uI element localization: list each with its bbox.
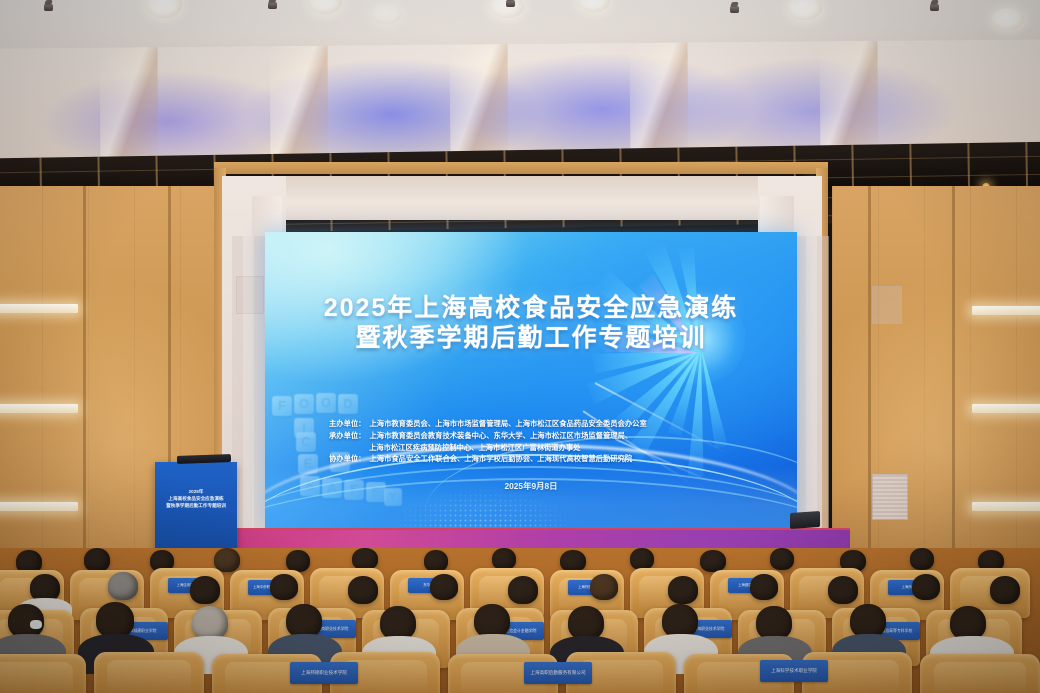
seat-placard: 上海邦德职业技术学院	[290, 662, 358, 684]
face-mask	[30, 620, 42, 629]
wall-light-slot	[972, 306, 1040, 315]
wall-seam	[868, 186, 871, 606]
attendee-head	[910, 548, 934, 570]
wall-access-panel-right	[872, 286, 902, 324]
ceiling-spot-fixture	[268, 2, 277, 9]
stage-laptop-right	[790, 511, 820, 529]
screen-title-line-1: 2025年上海高校食品安全应急演练	[265, 294, 797, 324]
auditorium-seat	[94, 652, 204, 693]
attendee-head	[990, 576, 1020, 604]
wall-vent-right	[872, 474, 908, 520]
attendee-head	[430, 574, 458, 600]
attendee-head	[828, 576, 858, 604]
wall-light-slot	[0, 304, 78, 313]
attendee-head	[560, 550, 586, 572]
wall-light-slot	[972, 502, 1040, 511]
attendee-head	[192, 606, 228, 640]
stage-drape-right	[795, 236, 829, 528]
attendee-head	[950, 606, 986, 640]
attendee-head	[662, 604, 698, 638]
led-screen: F O O D I C E S A F E T Y 2025年上海高校食品安全应…	[265, 232, 797, 530]
podium-sign-line-2: 上海高校食品安全应急演练	[160, 495, 232, 502]
attendee-head	[668, 576, 698, 604]
attendee-head	[750, 574, 778, 600]
ceiling-downlight	[992, 8, 1024, 30]
attendee-head	[770, 548, 794, 570]
audience-seating: 上海应用技术大学 上海中侨职业技术大学 东华大学 上海外国语大学 上海健康医学院…	[0, 548, 1040, 693]
proscenium-wood-header	[214, 162, 828, 174]
attendee-head	[492, 548, 516, 570]
auditorium-seat	[0, 654, 86, 693]
ceiling-spot-fixture	[506, 0, 515, 7]
attendee-head	[96, 602, 134, 638]
conference-hall-photo: F O O D I C E S A F E T Y 2025年上海高校食品安全应…	[0, 0, 1040, 693]
wood-wall-right	[832, 186, 1040, 606]
ceiling-spot-fixture	[44, 4, 53, 11]
wall-light-slot	[0, 404, 78, 413]
attendee-head	[286, 604, 322, 638]
attendee-head	[190, 576, 220, 604]
attendee-head	[756, 606, 792, 640]
ceiling-spot-fixture	[930, 4, 939, 11]
attendee-head	[568, 606, 604, 640]
attendee-head	[352, 548, 378, 570]
attendee-head	[700, 550, 726, 572]
screen-title-block: 2025年上海高校食品安全应急演练 暨秋季学期后勤工作专题培训	[265, 294, 797, 353]
ceiling-spot-fixture	[730, 6, 739, 13]
attendee-head	[850, 604, 886, 638]
attendee-head	[590, 574, 618, 600]
attendee-head	[508, 576, 538, 604]
auditorium-seat	[920, 654, 1040, 693]
proscenium-header	[222, 176, 822, 220]
attendee-head	[84, 548, 110, 572]
attendee-head	[474, 604, 510, 638]
attendee-head	[214, 548, 240, 572]
podium-sign-line-1: 2025年	[160, 488, 232, 495]
seat-placard: 上海科学技术职业学院	[760, 660, 828, 682]
screen-title-line-2: 暨秋季学期后勤工作专题培训	[265, 324, 797, 354]
attendee-head	[286, 550, 310, 572]
attendee-head	[270, 574, 298, 600]
podium: 2025年 上海高校食品安全应急演练 暨秋季学期后勤工作专题培训	[155, 462, 237, 560]
ceiling-downlight	[372, 4, 402, 24]
wall-light-slot	[0, 502, 78, 511]
attendee-head	[424, 550, 448, 572]
podium-sign-line-3: 暨秋季学期后勤工作专题培训	[160, 502, 232, 509]
attendee-head	[348, 576, 378, 604]
attendee-head	[380, 606, 416, 640]
stage-drape-left	[232, 236, 268, 528]
wave-graphic	[265, 428, 797, 530]
attendee-head	[912, 574, 940, 600]
wall-light-slot	[972, 404, 1040, 413]
seat-placard: 上海高职后勤服务有限公司	[524, 662, 592, 684]
wall-seam	[952, 186, 955, 606]
attendee-head	[108, 572, 138, 600]
podium-laptop	[177, 454, 231, 464]
wall-seam	[83, 186, 86, 606]
attendee-head	[630, 548, 654, 570]
